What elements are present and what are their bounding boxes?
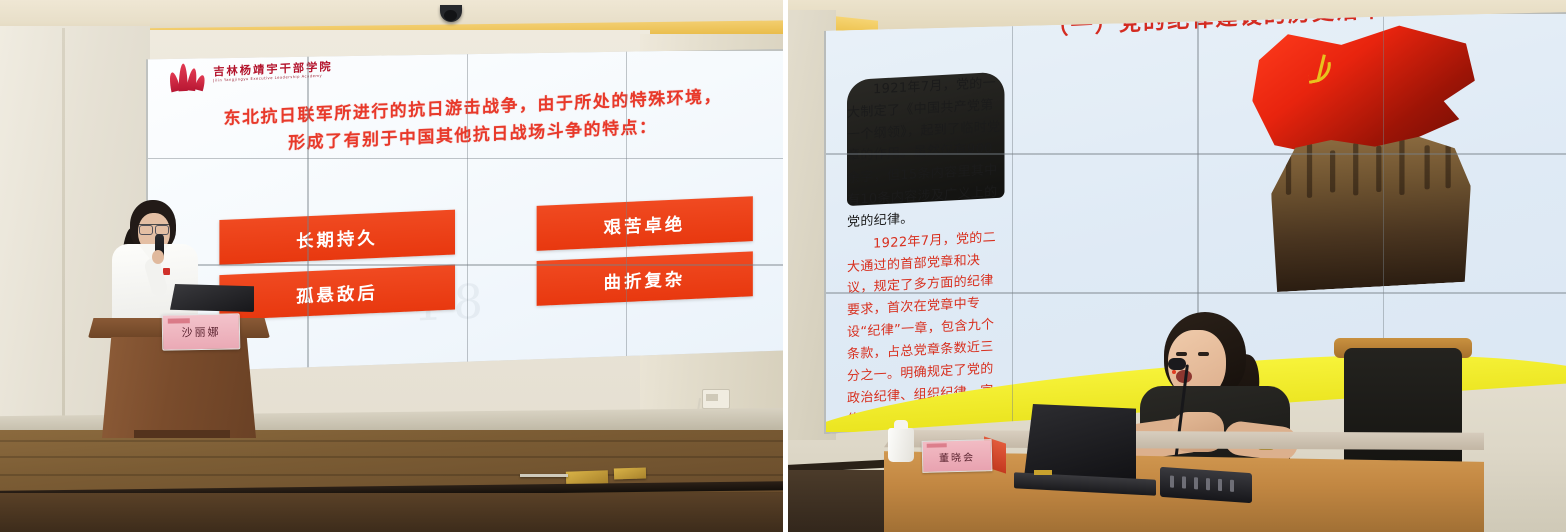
left-lecture-room: 吉林杨靖宇干部学院 Jilin Yangjingyu Executive Lea… — [0, 0, 783, 532]
feature-box-1: 长期持久 — [219, 210, 454, 265]
podium-base — [134, 430, 230, 438]
slide-body: 1921年7月，党的一大制定了《中国共产党第一个纲领》，起到了临时党章的作用。虽… — [847, 72, 1005, 207]
lidded-mug-icon — [888, 428, 914, 462]
screenshot-root: 吉林杨靖宇干部学院 Jilin Yangjingyu Executive Lea… — [0, 0, 1566, 532]
audio-mixer-icon[interactable] — [1160, 467, 1252, 503]
desk-nameplate-text: 董晓会 — [939, 448, 975, 464]
desk-nameplate: 董晓会 — [922, 439, 993, 473]
floor — [788, 470, 884, 532]
laptop-badge — [1034, 470, 1052, 475]
left-photo: 吉林杨靖宇干部学院 Jilin Yangjingyu Executive Lea… — [0, 0, 783, 532]
mountain-logo-icon — [168, 59, 207, 91]
podium-nameplate: 沙丽娜 — [162, 313, 241, 350]
right-photo: （一）党的纪律建设的历史沿革 1921年7月，党的一大制定了《中国共产党第一个纲… — [788, 0, 1566, 532]
wall-outlet-icon — [702, 389, 730, 409]
podium-body — [102, 337, 256, 438]
floor-cable — [520, 474, 568, 477]
party-flag-icon — [1252, 19, 1475, 165]
eye-left — [1176, 352, 1187, 356]
party-flag-monument-image — [1244, 18, 1485, 294]
eye-right — [1198, 352, 1209, 356]
hammer-sickle-icon — [1307, 53, 1343, 84]
front-floor — [0, 493, 783, 532]
hand — [152, 250, 164, 264]
podium-laptop-icon[interactable] — [170, 284, 254, 312]
feature-box-2: 艰苦卓绝 — [536, 196, 753, 251]
brass-floor-port-icon — [614, 467, 646, 479]
microphone-head — [1168, 358, 1186, 370]
podium-nameplate-text: 沙丽娜 — [181, 324, 220, 341]
party-badge-icon — [163, 268, 170, 275]
feature-box-4: 曲折复杂 — [536, 251, 753, 306]
academy-logo: 吉林杨靖宇干部学院 Jilin Yangjingyu Executive Lea… — [168, 54, 332, 92]
podium: 沙丽娜 — [88, 318, 270, 438]
slide-paragraph-1: 1921年7月，党的一大制定了《中国共产党第一个纲领》，起到了临时党章的作用。虽… — [847, 72, 1005, 234]
microphone-led — [1172, 370, 1176, 374]
eyeglasses-icon — [139, 224, 169, 233]
monument-sculpture — [1271, 132, 1471, 292]
slide-heading: 东北抗日联军所进行的抗日游击战争，由于所处的特殊环境， 形成了有别于中国其他抗日… — [148, 80, 783, 163]
right-lecture-room: （一）党的纪律建设的历史沿革 1921年7月，党的一大制定了《中国共产党第一个纲… — [788, 0, 1566, 532]
